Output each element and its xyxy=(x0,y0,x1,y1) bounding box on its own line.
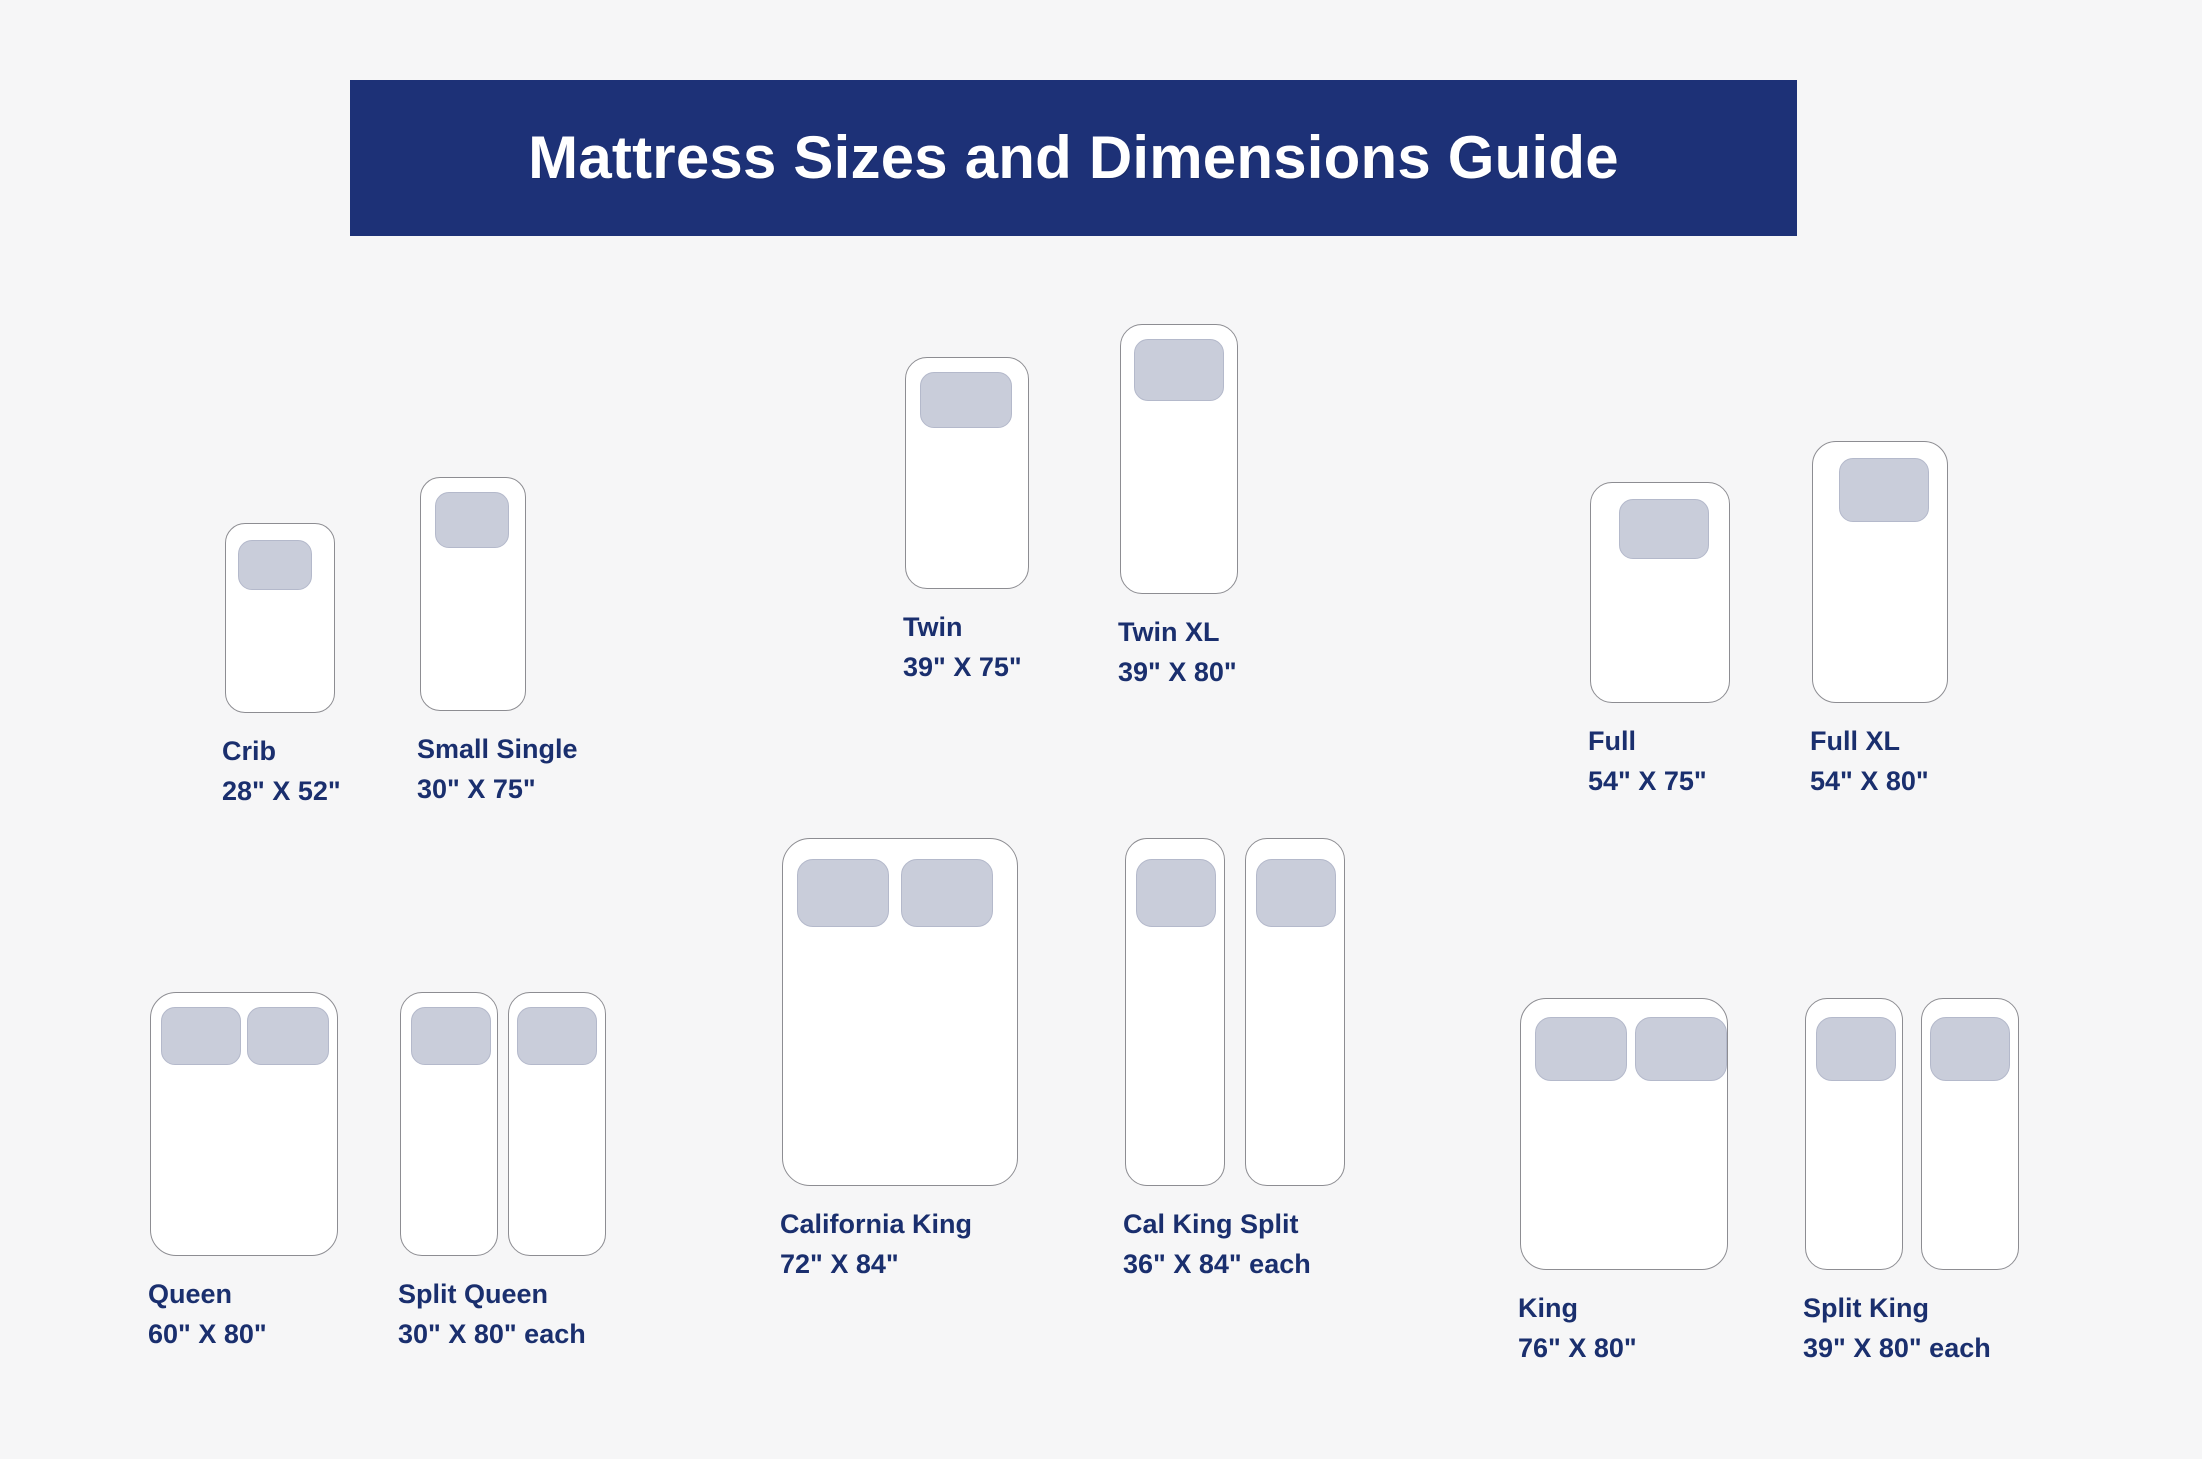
mattress-diagram-small-single xyxy=(420,477,526,711)
mattress-diagram-twin xyxy=(905,357,1029,589)
mattress-panel xyxy=(420,477,526,711)
pillow-icon xyxy=(247,1007,329,1065)
mattress-label-crib: Crib 28" X 52" xyxy=(222,731,341,811)
mattress-name: Cal King Split xyxy=(1123,1204,1311,1244)
mattress-label-twin-xl: Twin XL 39" X 80" xyxy=(1118,612,1237,692)
mattress-name: Full xyxy=(1588,721,1707,761)
pillow-icon xyxy=(901,859,993,927)
pillow-icon xyxy=(920,372,1012,428)
mattress-group-crib: Crib 28" X 52" xyxy=(225,523,335,713)
mattress-group-king: King 76" X 80" xyxy=(1520,998,1728,1270)
mattress-group-split-king: Split King 39" X 80" each xyxy=(1805,998,2019,1270)
pillow-icon xyxy=(161,1007,241,1065)
mattress-name: Split King xyxy=(1803,1288,1991,1328)
mattress-diagram-full xyxy=(1590,482,1730,703)
mattress-dimensions: 30" X 80" each xyxy=(398,1314,586,1354)
mattress-panel xyxy=(782,838,1018,1186)
mattress-diagram-twin-xl xyxy=(1120,324,1238,594)
pillow-icon xyxy=(517,1007,597,1065)
pillow-icon xyxy=(411,1007,491,1065)
mattress-panel xyxy=(1921,998,2019,1270)
pillow-icon xyxy=(1816,1017,1896,1081)
mattress-panel xyxy=(1125,838,1225,1186)
pillow-icon xyxy=(1136,859,1216,927)
mattress-diagram-split-king xyxy=(1805,998,2019,1270)
mattress-name: King xyxy=(1518,1288,1637,1328)
mattress-dimensions: 39" X 80" each xyxy=(1803,1328,1991,1368)
mattress-panel xyxy=(1590,482,1730,703)
mattress-group-small-single: Small Single 30" X 75" xyxy=(420,477,526,711)
mattress-panel xyxy=(508,992,606,1256)
mattress-panel xyxy=(1245,838,1345,1186)
mattress-label-king: King 76" X 80" xyxy=(1518,1288,1637,1368)
mattress-panel xyxy=(400,992,498,1256)
mattress-label-full: Full 54" X 75" xyxy=(1588,721,1707,801)
mattress-group-split-queen: Split Queen 30" X 80" each xyxy=(400,992,606,1256)
mattress-dimensions: 28" X 52" xyxy=(222,771,341,811)
mattress-dimensions: 72" X 84" xyxy=(780,1244,972,1284)
mattress-diagram-king xyxy=(1520,998,1728,1270)
mattress-panel xyxy=(1520,998,1728,1270)
mattress-dimensions: 54" X 75" xyxy=(1588,761,1707,801)
mattress-name: Queen xyxy=(148,1274,267,1314)
pillow-icon xyxy=(1839,458,1929,522)
mattress-label-cal-king-split: Cal King Split 36" X 84" each xyxy=(1123,1204,1311,1284)
mattress-dimensions: 39" X 75" xyxy=(903,647,1022,687)
pillow-icon xyxy=(1930,1017,2010,1081)
mattress-name: Small Single xyxy=(417,729,578,769)
page-title: Mattress Sizes and Dimensions Guide xyxy=(528,128,1619,188)
pillow-icon xyxy=(797,859,889,927)
mattress-diagram-cal-king-split xyxy=(1125,838,1345,1186)
mattress-group-twin: Twin 39" X 75" xyxy=(905,357,1029,589)
mattress-diagram-split-queen xyxy=(400,992,606,1256)
mattress-diagram-crib xyxy=(225,523,335,713)
mattress-name: Split Queen xyxy=(398,1274,586,1314)
mattress-dimensions: 76" X 80" xyxy=(1518,1328,1637,1368)
mattress-group-full: Full 54" X 75" xyxy=(1590,482,1730,703)
mattress-group-full-xl: Full XL 54" X 80" xyxy=(1812,441,1948,703)
pillow-icon xyxy=(238,540,312,590)
pillow-icon xyxy=(1635,1017,1727,1081)
mattress-diagram-california-king xyxy=(782,838,1018,1186)
mattress-label-twin: Twin 39" X 75" xyxy=(903,607,1022,687)
page-title-banner: Mattress Sizes and Dimensions Guide xyxy=(350,80,1797,236)
pillow-icon xyxy=(1619,499,1709,559)
mattress-name: Crib xyxy=(222,731,341,771)
pillow-icon xyxy=(1256,859,1336,927)
mattress-name: California King xyxy=(780,1204,972,1244)
mattress-group-california-king: California King 72" X 84" xyxy=(782,838,1018,1186)
mattress-dimensions: 36" X 84" each xyxy=(1123,1244,1311,1284)
mattress-panel xyxy=(1805,998,1903,1270)
mattress-dimensions: 60" X 80" xyxy=(148,1314,267,1354)
mattress-panel xyxy=(1120,324,1238,594)
mattress-name: Twin XL xyxy=(1118,612,1237,652)
mattress-diagram-queen xyxy=(150,992,338,1256)
mattress-label-split-queen: Split Queen 30" X 80" each xyxy=(398,1274,586,1354)
mattress-panel xyxy=(225,523,335,713)
mattress-group-queen: Queen 60" X 80" xyxy=(150,992,338,1256)
mattress-label-queen: Queen 60" X 80" xyxy=(148,1274,267,1354)
mattress-panel xyxy=(1812,441,1948,703)
mattress-label-small-single: Small Single 30" X 75" xyxy=(417,729,578,809)
mattress-label-full-xl: Full XL 54" X 80" xyxy=(1810,721,1929,801)
mattress-panel xyxy=(150,992,338,1256)
mattress-dimensions: 39" X 80" xyxy=(1118,652,1237,692)
mattress-group-cal-king-split: Cal King Split 36" X 84" each xyxy=(1125,838,1345,1186)
mattress-name: Twin xyxy=(903,607,1022,647)
mattress-group-twin-xl: Twin XL 39" X 80" xyxy=(1120,324,1238,594)
pillow-icon xyxy=(1535,1017,1627,1081)
mattress-dimensions: 30" X 75" xyxy=(417,769,578,809)
mattress-diagram-full-xl xyxy=(1812,441,1948,703)
mattress-panel xyxy=(905,357,1029,589)
mattress-name: Full XL xyxy=(1810,721,1929,761)
mattress-label-split-king: Split King 39" X 80" each xyxy=(1803,1288,1991,1368)
pillow-icon xyxy=(1134,339,1224,401)
mattress-label-california-king: California King 72" X 84" xyxy=(780,1204,972,1284)
pillow-icon xyxy=(435,492,509,548)
mattress-dimensions: 54" X 80" xyxy=(1810,761,1929,801)
